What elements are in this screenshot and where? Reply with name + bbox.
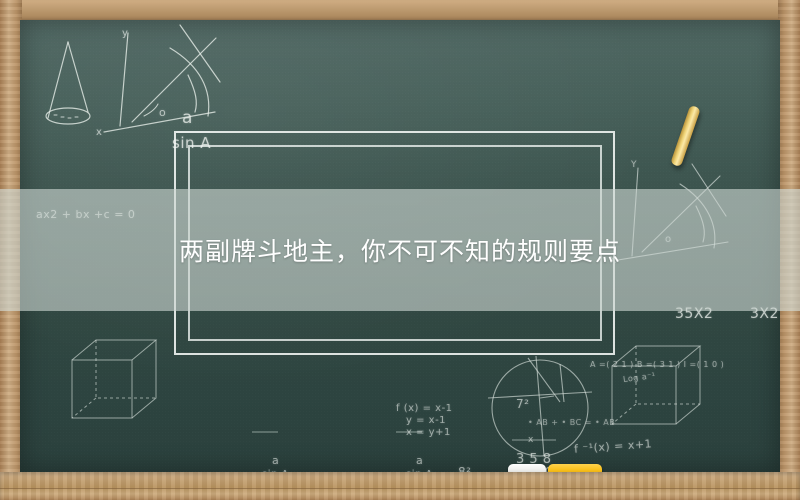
ledge-grain-line — [0, 488, 800, 489]
chalk-text-axis-x-left: x — [96, 127, 102, 138]
circle-horizontal-chord — [488, 392, 592, 398]
chalk-text-a-over-sina-numerator: a — [182, 108, 193, 128]
frame-top-rail — [0, 0, 800, 22]
angle-mark-left — [144, 104, 158, 116]
cone-right-edge — [68, 42, 88, 112]
cone-base-ellipse — [46, 108, 90, 124]
axis-y-line-left — [120, 33, 128, 126]
chalk-group-cube-right — [612, 346, 700, 424]
page-title: 两副牌斗地主，你不可不知的规则要点 — [0, 189, 800, 311]
cone-base-hatch — [54, 115, 78, 118]
chalk-text-fx-line2: y = x-1 — [406, 415, 446, 426]
chalk-text-a-b2-numerator: a — [272, 454, 279, 467]
cube-top-face-1 — [72, 340, 156, 360]
angle-arc-left-inner — [188, 75, 196, 112]
chalk-text-angle-o-left: o — [159, 106, 166, 119]
chalk-text-axis-y-left: y — [122, 28, 128, 39]
chalk-stick-white-ledge — [508, 464, 546, 472]
chalk-group-top-left — [46, 25, 220, 132]
chalk-text-a-b1-numerator: a — [416, 454, 423, 467]
cube-front-face-1 — [72, 360, 132, 418]
angle-cross-left — [180, 25, 220, 82]
chalk-text-matrix-row: A =( 2 1 ) B =( 3 1 ) I =( 1 0 ) — [590, 360, 724, 369]
circle-radius-tick — [540, 396, 554, 398]
screenshot-root: a sin A ax2 + bx +c = 0 y x o Y X o 35X2… — [0, 0, 800, 500]
cube-hidden-edge-1b — [72, 398, 96, 418]
chalk-text-fx-line3: x = y+1 — [406, 427, 451, 438]
chalk-text-vector-identity: • AB + • BC = • AB — [528, 418, 615, 427]
cube-hidden-edges-1 — [96, 340, 156, 398]
chalk-group-circle — [488, 356, 592, 456]
circle-radius-line-2 — [560, 364, 564, 402]
cube-right-face-2 — [676, 346, 700, 424]
chalk-text-axis-y-right: Y — [631, 160, 637, 170]
cone-left-edge — [48, 42, 68, 118]
chalk-text-division-x: x — [528, 435, 534, 445]
chalk-ledge — [0, 472, 800, 500]
chalk-stick-yellow-ledge — [548, 464, 602, 472]
chalk-text-fx-line1: f (x) = x-1 — [396, 403, 453, 414]
chalk-text-seven-squared: 7² — [516, 397, 529, 411]
chalk-text-eight-squared: 8² — [458, 465, 471, 472]
cube-hidden-edge-2b — [612, 404, 636, 424]
chalk-group-cube-left — [72, 340, 156, 418]
cube-right-face-1 — [132, 340, 156, 418]
